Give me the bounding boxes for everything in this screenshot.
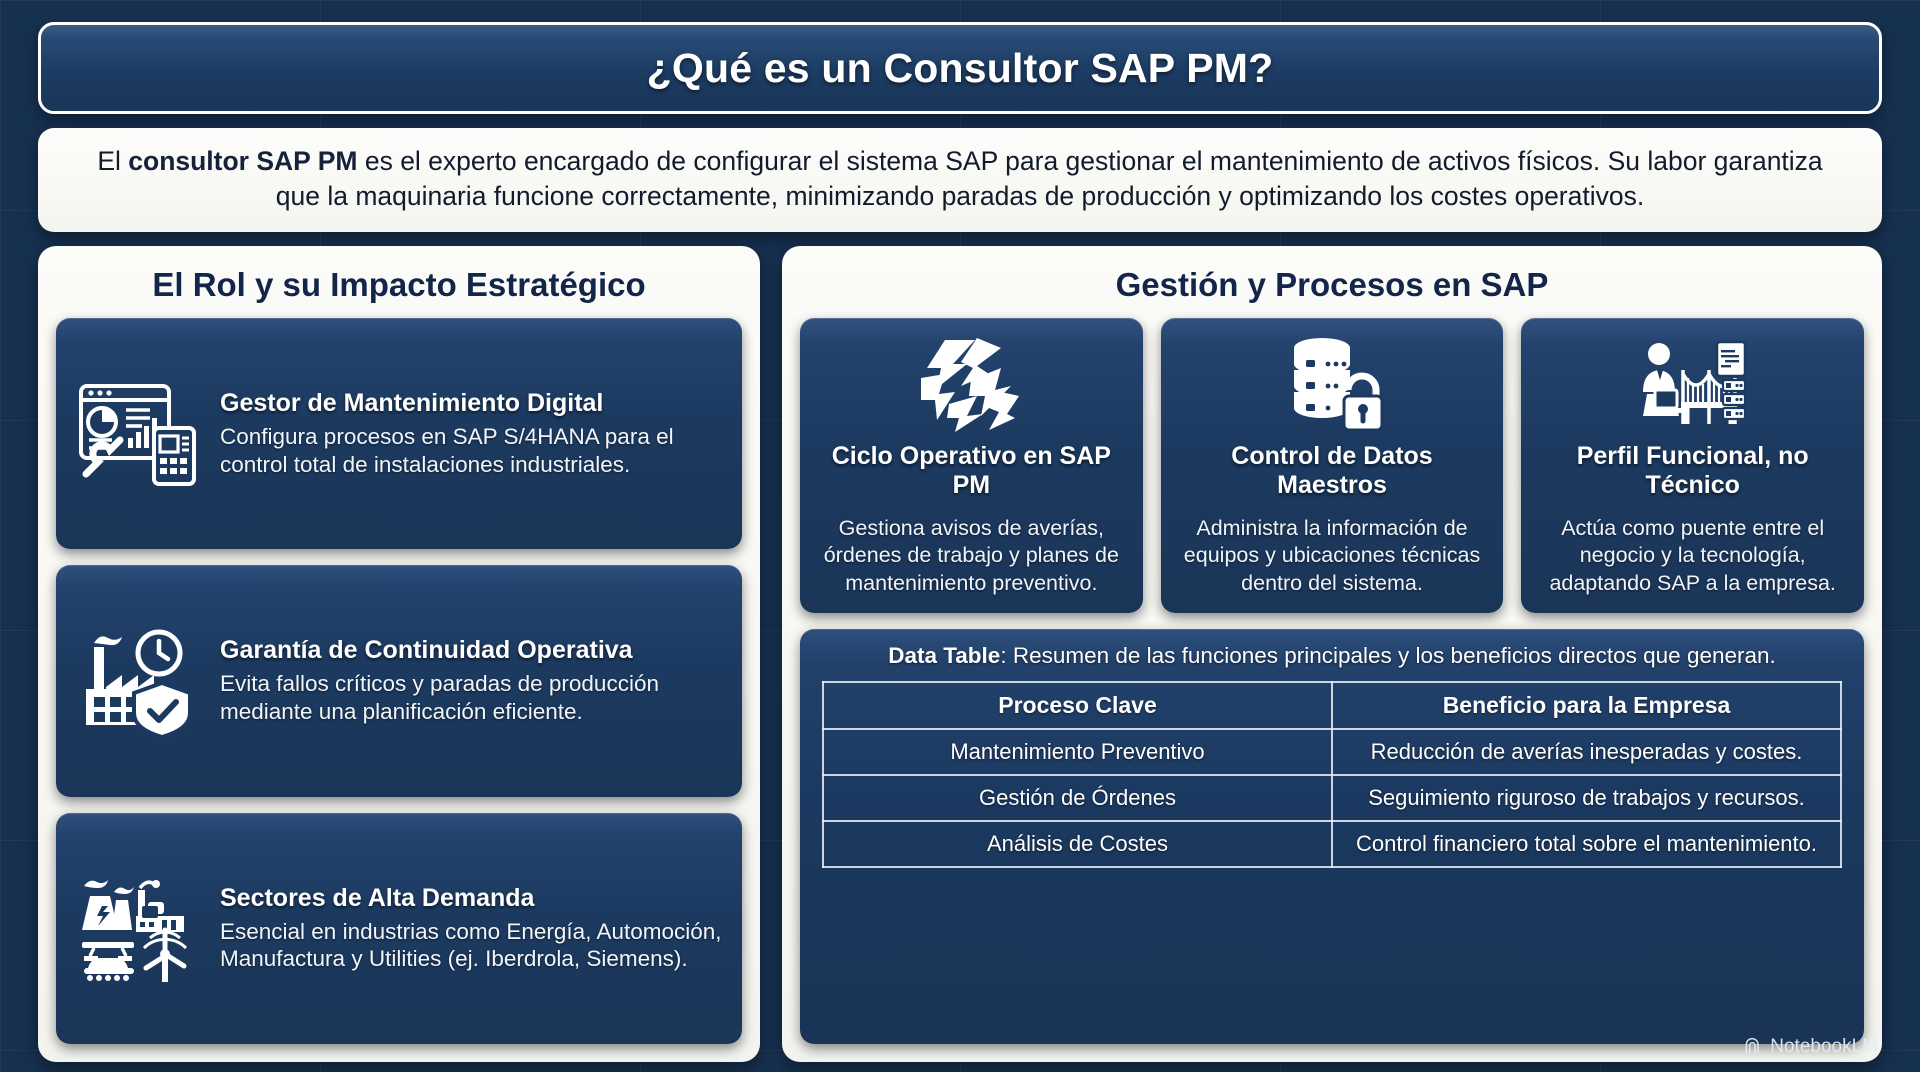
table-row: Análisis de Costes Control financiero to… [823,821,1841,867]
data-table-caption: Data Table: Resumen de las funciones pri… [822,643,1842,669]
title-banner: ¿Qué es un Consultor SAP PM? [38,22,1882,114]
table-cell-beneficio: Seguimiento riguroso de trabajos y recur… [1332,775,1841,821]
watermark-label: NotebookLM [1770,1036,1878,1058]
feature-card-title: Gestor de Mantenimiento Digital [220,389,722,418]
factory-clock-shield-icon [72,625,204,737]
feature-card-title: Garantía de Continuidad Operativa [220,636,722,665]
data-table-caption-bold: Data Table [888,643,1000,668]
table-cell-proceso: Gestión de Órdenes [823,775,1332,821]
summary-table-head: Proceso Clave Beneficio para la Empresa [823,682,1841,729]
feature-card-title: Sectores de Alta Demanda [220,884,722,913]
process-card-row: Ciclo Operativo en SAP PM Gestiona aviso… [800,318,1864,613]
left-panel: El Rol y su Impacto Estratégico [38,246,760,1062]
feature-card-garantia-continuidad-operativa[interactable]: Garantía de Continuidad Operativa Evita … [56,565,742,796]
industry-energy-icon [72,872,204,984]
intro-card: El consultor SAP PM es el experto encarg… [38,128,1882,232]
feature-card-body: Garantía de Continuidad Operativa Evita … [220,636,722,725]
page-title: ¿Qué es un Consultor SAP PM? [647,45,1274,92]
intro-lead: El [97,146,128,176]
table-header-proceso-clave: Proceso Clave [823,682,1332,729]
left-panel-heading: El Rol y su Impacto Estratégico [56,266,742,304]
consultant-bridge-icon [1637,332,1749,436]
data-table-caption-rest: : Resumen de las funciones principales y… [1000,643,1775,668]
table-row: Gestión de Órdenes Seguimiento riguroso … [823,775,1841,821]
intro-rest: es el experto encargado de configurar el… [276,146,1823,211]
right-panel-heading: Gestión y Procesos en SAP [800,266,1864,304]
feature-card-desc: Esencial en industrias como Energía, Aut… [220,918,722,973]
intro-bold-term: consultor SAP PM [128,146,357,176]
table-cell-beneficio: Control financiero total sobre el manten… [1332,821,1841,867]
process-card-ciclo-operativo[interactable]: Ciclo Operativo en SAP PM Gestiona aviso… [800,318,1143,613]
process-card-perfil-funcional[interactable]: Perfil Funcional, no Técnico Actúa como … [1521,318,1864,613]
cycle-shutter-icon [915,332,1027,436]
feature-card-gestor-mantenimiento-digital[interactable]: Gestor de Mantenimiento Digital Configur… [56,318,742,549]
process-card-title: Perfil Funcional, no Técnico [1535,442,1850,501]
left-feature-list: Gestor de Mantenimiento Digital Configur… [56,318,742,1044]
feature-card-desc: Configura procesos en SAP S/4HANA para e… [220,423,722,478]
feature-card-body: Gestor de Mantenimiento Digital Configur… [220,389,722,478]
process-card-desc: Gestiona avisos de averías, órdenes de t… [814,515,1129,597]
database-lock-icon [1276,332,1388,436]
table-cell-proceso: Mantenimiento Preventivo [823,729,1332,775]
notebooklm-watermark: NotebookLM [1743,1036,1878,1058]
right-panel: Gestión y Procesos en SAP Ciclo Op [782,246,1882,1062]
table-header-beneficio: Beneficio para la Empresa [1332,682,1841,729]
table-row: Mantenimiento Preventivo Reducción de av… [823,729,1841,775]
process-card-desc: Administra la información de equipos y u… [1175,515,1490,597]
process-card-desc: Actúa como puente entre el negocio y la … [1535,515,1850,597]
feature-card-body: Sectores de Alta Demanda Esencial en ind… [220,884,722,973]
table-cell-beneficio: Reducción de averías inesperadas y coste… [1332,729,1841,775]
feature-card-desc: Evita fallos críticos y paradas de produ… [220,670,722,725]
table-header-row: Proceso Clave Beneficio para la Empresa [823,682,1841,729]
dashboard-wrench-icon [72,378,204,490]
columns-wrapper: El Rol y su Impacto Estratégico [38,246,1882,1062]
summary-table: Proceso Clave Beneficio para la Empresa … [822,681,1842,868]
data-table-card: Data Table: Resumen de las funciones pri… [800,629,1864,1044]
process-card-title: Control de Datos Maestros [1175,442,1490,501]
notebooklm-logo-icon [1743,1037,1763,1057]
table-cell-proceso: Análisis de Costes [823,821,1332,867]
feature-card-sectores-alta-demanda[interactable]: Sectores de Alta Demanda Esencial en ind… [56,813,742,1044]
process-card-title: Ciclo Operativo en SAP PM [814,442,1129,501]
intro-paragraph: El consultor SAP PM es el experto encarg… [72,144,1848,214]
infographic-page: ¿Qué es un Consultor SAP PM? El consulto… [0,0,1920,1072]
process-card-control-datos-maestros[interactable]: Control de Datos Maestros Administra la … [1161,318,1504,613]
summary-table-body: Mantenimiento Preventivo Reducción de av… [823,729,1841,867]
